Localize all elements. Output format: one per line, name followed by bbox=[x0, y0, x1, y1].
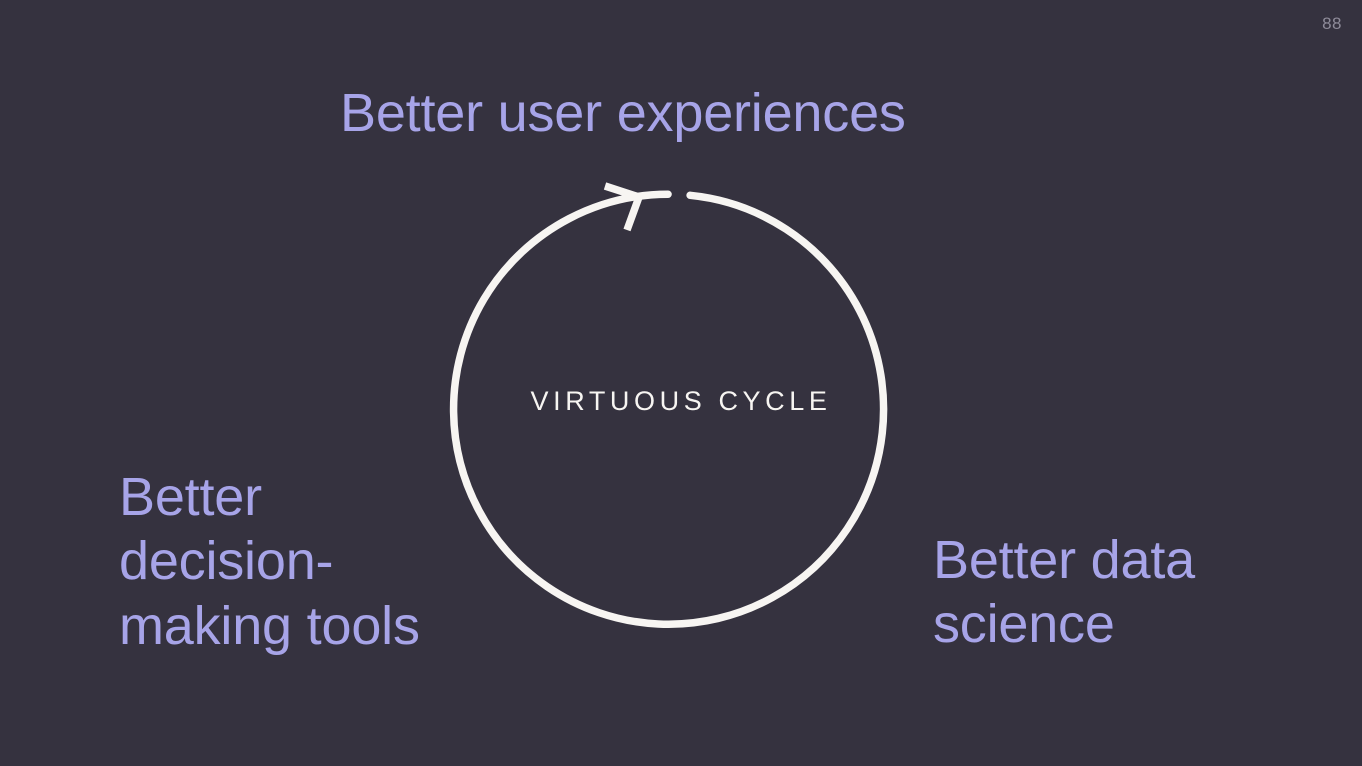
cycle-node-label-right: Better data science bbox=[933, 528, 1195, 657]
slide: 88 Better user experiences Better decisi… bbox=[0, 0, 1362, 766]
cycle-node-label-left: Better decision- making tools bbox=[119, 465, 420, 658]
cycle-node-label-top: Better user experiences bbox=[340, 83, 906, 143]
cycle-arrowhead bbox=[605, 186, 639, 230]
cycle-center-label: VIRTUOUS CYCLE bbox=[0, 388, 1362, 415]
page-number: 88 bbox=[1322, 14, 1342, 34]
